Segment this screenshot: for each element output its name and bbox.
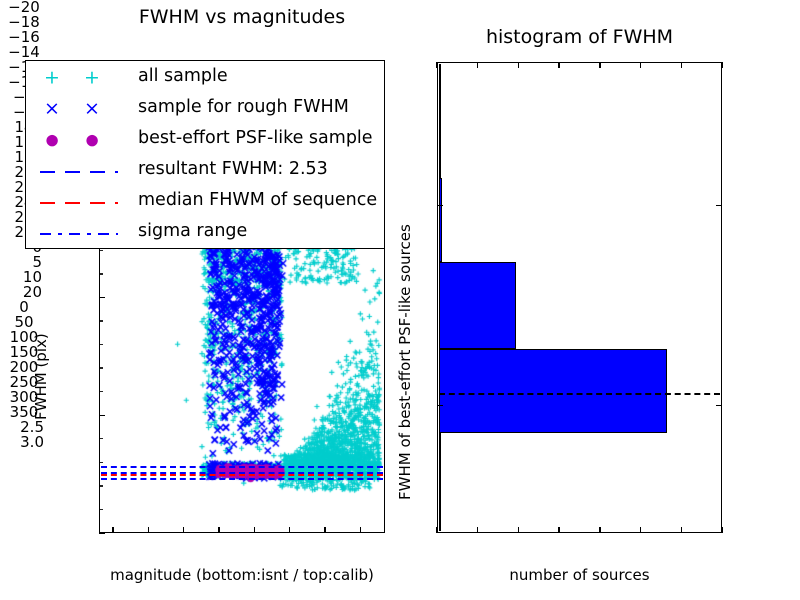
legend-marker (26, 217, 134, 248)
legend-item: ●●best-effort PSF-like sample (26, 124, 384, 155)
legend-marker (26, 155, 134, 186)
histogram-resultant-fwhm-line (439, 393, 720, 395)
right-xaxis-label: number of sources (437, 568, 722, 583)
right-yaxis-label: FWHM of best-effort PSF-like sources (398, 500, 674, 515)
dashdot-line-icon (40, 233, 118, 235)
histogram-bar (439, 517, 441, 531)
legend-label: sample for rough FWHM (138, 97, 349, 117)
dashed-line-icon (40, 171, 118, 173)
legend-label: sigma range (138, 221, 247, 241)
legend-label: best-effort PSF-like sample (138, 128, 373, 148)
legend-item: resultant FWHM: 2.53 (26, 155, 384, 186)
circle-icon: ● (45, 132, 58, 147)
cross-icon: × (84, 99, 100, 118)
legend-marker (26, 186, 134, 217)
histogram-plot-area (439, 64, 720, 531)
plus-icon: + (84, 68, 100, 87)
legend-marker: ++ (26, 62, 134, 93)
legend-box: ++all sample××sample for rough FWHM●●bes… (25, 60, 385, 249)
legend-item: ××sample for rough FWHM (26, 93, 384, 124)
cross-icon: × (44, 99, 60, 118)
histogram-bar (439, 64, 441, 178)
left-xaxis-label: magnitude (bottom:isnt / top:calib) (60, 568, 424, 583)
histogram-bar (439, 349, 667, 433)
sigma-range-lower-line (101, 478, 383, 480)
median-fwhm-line (101, 474, 383, 476)
sigma-range-upper-line (101, 466, 383, 468)
legend-item: ++all sample (26, 62, 384, 93)
legend-marker: ●● (26, 124, 134, 155)
legend-label: median FHWM of sequence (138, 190, 377, 210)
circle-icon: ● (85, 132, 98, 147)
right-panel-title: histogram of FWHM (437, 28, 722, 47)
plus-icon: + (44, 68, 60, 87)
legend-marker: ×× (26, 93, 134, 124)
legend-label: all sample (138, 66, 228, 86)
legend-label: resultant FWHM: 2.53 (138, 159, 328, 179)
left-yaxis-label: FWHM (pix) (34, 420, 121, 435)
left-panel-title: FWHM vs magnitudes (99, 8, 385, 27)
legend-item: sigma range (26, 217, 384, 248)
legend-item: median FHWM of sequence (26, 186, 384, 217)
histogram-bar (439, 262, 516, 350)
dashed-line-icon (40, 202, 118, 204)
histogram-bar (439, 178, 442, 262)
